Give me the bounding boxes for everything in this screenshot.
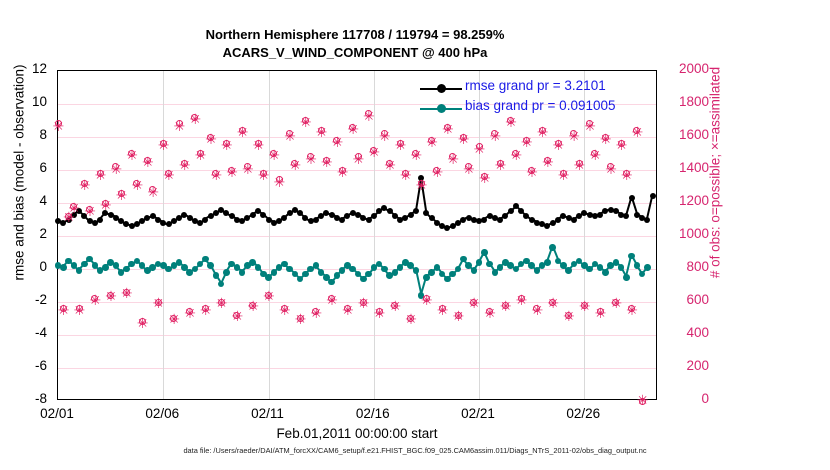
y-axis-right-tick-label: 2000	[663, 61, 709, 76]
x-axis-tick-label: 02/01	[27, 406, 87, 421]
y-axis-right-tick-label: 200	[663, 358, 709, 373]
x-axis-labels: 02/0102/0602/1102/1602/2102/26	[57, 404, 657, 424]
y-axis-right-tick-label: 1800	[663, 94, 709, 109]
y-axis-right-tick-label: 600	[663, 292, 709, 307]
y-axis-right-title: # of obs: o=possible; ×=assimilated	[708, 23, 723, 323]
x-axis-tick-label: 02/06	[132, 406, 192, 421]
x-axis-tick-label: 02/11	[238, 406, 298, 421]
legend-marker-rmse	[437, 84, 446, 93]
x-axis-title: Feb.01,2011 00:00:00 start	[57, 426, 657, 441]
y-axis-left-title: rmse and bias (model - observation)	[12, 23, 27, 323]
x-axis-tick-label: 02/16	[343, 406, 403, 421]
y-axis-right-tick-label: 1600	[663, 127, 709, 142]
figure-canvas: Northern Hemisphere 117708 / 119794 = 98…	[0, 0, 830, 470]
legend-label-rmse: rmse grand pr = 3.2101	[465, 78, 606, 93]
y-axis-right-tick-label: 800	[663, 259, 709, 274]
chart-title-line2: ACARS_V_WIND_COMPONENT @ 400 hPa	[0, 45, 710, 60]
chart-title-line1: Northern Hemisphere 117708 / 119794 = 98…	[0, 27, 710, 42]
y-axis-right-labels: 0200400600800100012001400160018002000	[663, 70, 743, 400]
y-axis-right-tick-label: 1000	[663, 226, 709, 241]
chart-legend: rmse grand pr = 3.2101bias grand pr = 0.…	[420, 79, 660, 121]
legend-marker-bias	[437, 104, 446, 113]
y-axis-left-tick-label: -6	[7, 358, 47, 373]
y-axis-right-tick-label: 1200	[663, 193, 709, 208]
x-axis-tick-label: 02/26	[553, 406, 613, 421]
y-axis-left-tick-label: -8	[7, 391, 47, 406]
legend-label-bias: bias grand pr = 0.091005	[465, 98, 616, 113]
y-axis-left-tick-label: -4	[7, 325, 47, 340]
y-axis-right-tick-label: 1400	[663, 160, 709, 175]
legend-item-bias: bias grand pr = 0.091005	[420, 99, 660, 119]
data-file-footer: data file: /Users/raeder/DAI/ATM_forcXX/…	[0, 446, 830, 455]
legend-item-rmse: rmse grand pr = 3.2101	[420, 79, 660, 99]
x-axis-tick-label: 02/21	[448, 406, 508, 421]
y-axis-right-tick-label: 0	[663, 391, 709, 406]
y-axis-right-tick-label: 400	[663, 325, 709, 340]
